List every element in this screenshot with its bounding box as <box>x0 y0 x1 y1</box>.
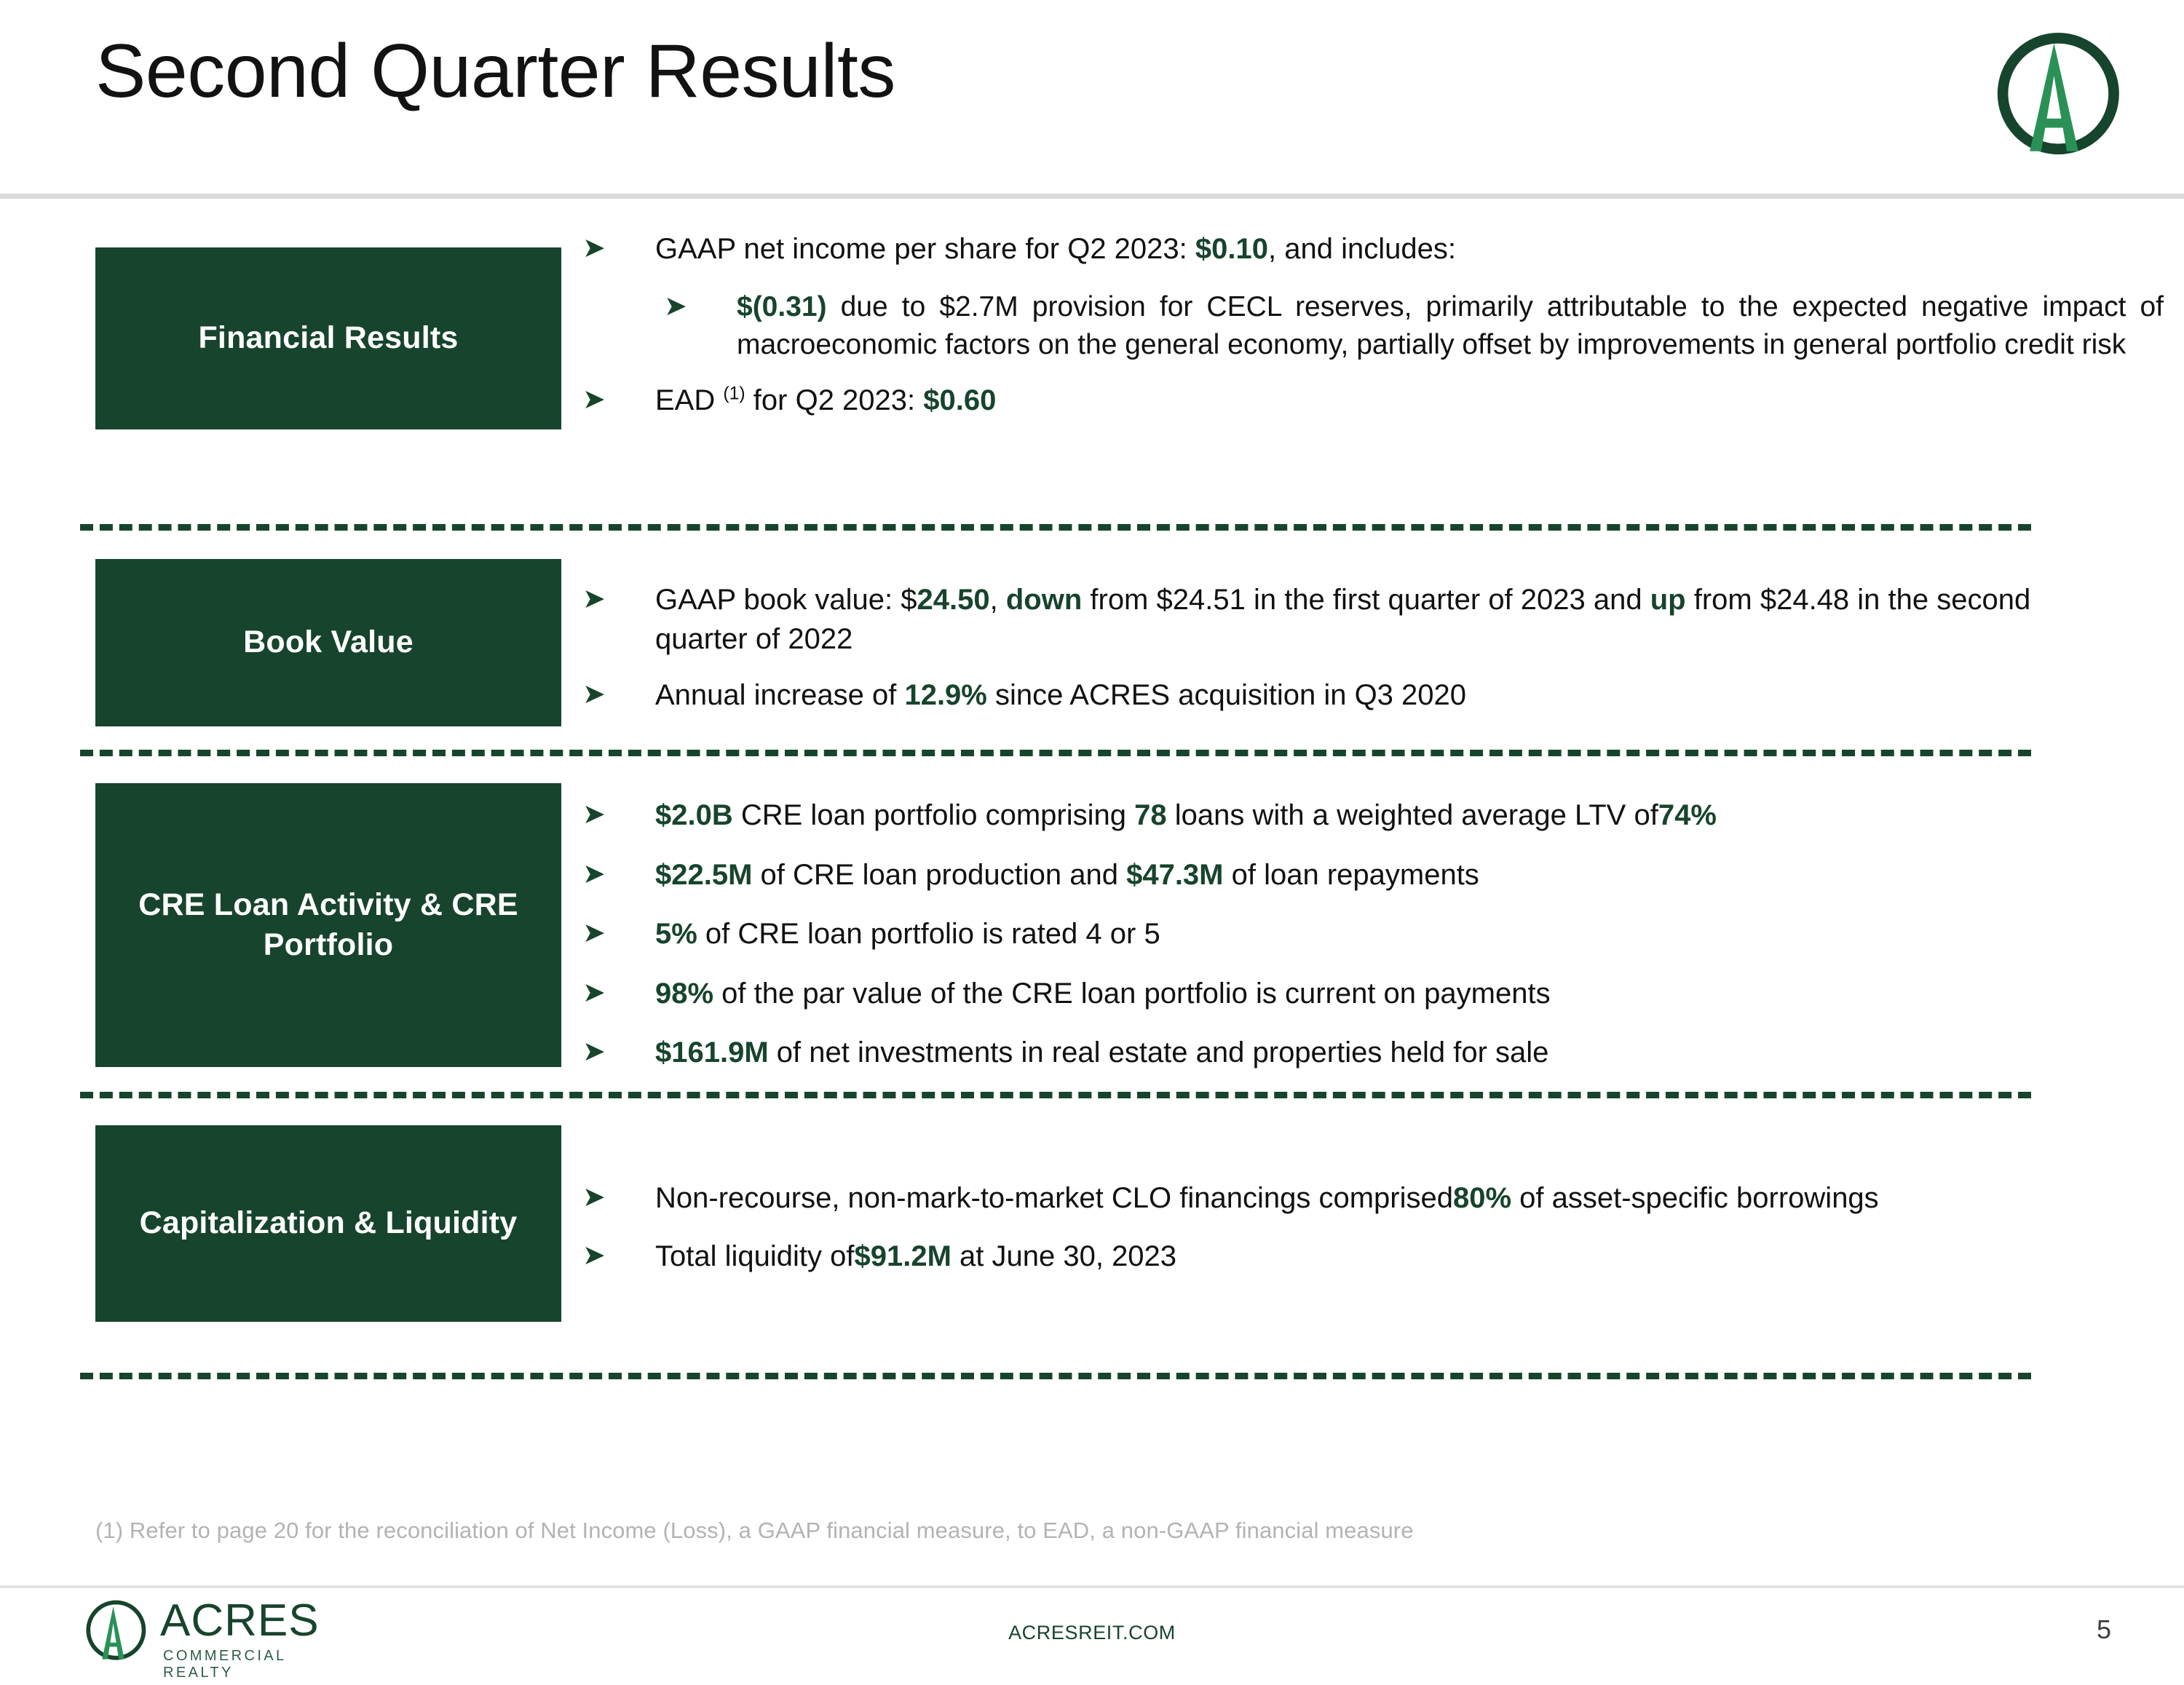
bullet-text: Non-recourse, non-mark-to-market CLO fin… <box>655 1182 1879 1214</box>
section-divider <box>80 524 2031 531</box>
bullet-item: ➤ 98% of the par value of the CRE loan p… <box>582 975 2046 1014</box>
arrow-bullet-icon: ➤ <box>582 678 616 711</box>
section-label-cre-loan-activity: CRE Loan Activity & CRE Portfolio <box>95 783 561 1067</box>
footer-url[interactable]: ACRESREIT.COM <box>0 1622 2184 1644</box>
section-divider <box>80 750 2031 756</box>
section-label-capitalization-liquidity: Capitalization & Liquidity <box>95 1125 561 1322</box>
arrow-bullet-icon: ➤ <box>582 1239 616 1272</box>
bullet-text: GAAP net income per share for Q2 2023: $… <box>655 233 1456 265</box>
bullet-item: ➤ $22.5M of CRE loan production and $47.… <box>582 856 2046 895</box>
bullet-text: Annual increase of 12.9% since ACRES acq… <box>655 679 1466 711</box>
bullet-item: ➤ $2.0B CRE loan portfolio comprising 78… <box>582 796 2046 836</box>
bullet-text: 98% of the par value of the CRE loan por… <box>655 978 1551 1010</box>
arrow-bullet-icon: ➤ <box>582 916 616 950</box>
section-bullets-cre-loan-activity: ➤ $2.0B CRE loan portfolio comprising 78… <box>582 796 2046 1073</box>
arrow-bullet-icon: ➤ <box>582 976 616 1010</box>
section-bullets-book-value: ➤ GAAP book value: $24.50, down from $24… <box>582 581 2046 715</box>
bullet-text: EAD (1) for Q2 2023: $0.60 <box>655 384 996 416</box>
section-label-book-value: Book Value <box>95 559 561 726</box>
bullet-item: ➤ GAAP book value: $24.50, down from $24… <box>582 581 2104 659</box>
arrow-bullet-icon: ➤ <box>582 383 616 416</box>
bullet-item: ➤ 5% of CRE loan portfolio is rated 4 or… <box>582 915 2046 954</box>
arrow-bullet-icon: ➤ <box>582 582 616 616</box>
bullet-text: Total liquidity of$91.2M at June 30, 202… <box>655 1240 1176 1272</box>
bullet-item: ➤ GAAP net income per share for Q2 2023:… <box>582 230 2046 269</box>
arrow-bullet-icon: ➤ <box>582 798 616 831</box>
footer-subwordmark: COMMERCIAL REALTY <box>163 1648 345 1681</box>
acres-circle-a-logo-icon <box>1974 19 2131 175</box>
bullet-text: $(0.31) due to $2.7M provision for CECL … <box>737 291 2164 360</box>
bullet-item: ➤ Total liquidity of$91.2M at June 30, 2… <box>582 1237 2046 1277</box>
arrow-bullet-icon: ➤ <box>582 1035 616 1069</box>
slide-header: Second Quarter Results <box>0 0 2184 195</box>
bullet-text: $22.5M of CRE loan production and $47.3M… <box>655 859 1479 891</box>
bullet-text: 5% of CRE loan portfolio is rated 4 or 5 <box>655 918 1160 950</box>
header-divider <box>0 194 2184 199</box>
arrow-bullet-icon: ➤ <box>582 1181 616 1214</box>
footnote: (1) Refer to page 20 for the reconciliat… <box>95 1518 1414 1544</box>
bullet-item: ➤ Annual increase of 12.9% since ACRES a… <box>582 676 2046 715</box>
page-title: Second Quarter Results <box>95 31 895 112</box>
page-number: 5 <box>2053 1614 2155 1645</box>
slide: Second Quarter Results Financial Results… <box>0 0 2184 1685</box>
footer-divider <box>0 1585 2184 1588</box>
section-bullets-financial-results: ➤ GAAP net income per share for Q2 2023:… <box>582 230 2046 421</box>
arrow-bullet-icon: ➤ <box>664 290 697 323</box>
bullet-text: $161.9M of net investments in real estat… <box>655 1036 1548 1069</box>
bullet-item: ➤ Non-recourse, non-mark-to-market CLO f… <box>582 1179 2046 1218</box>
bullet-text: $2.0B CRE loan portfolio comprising 78 l… <box>655 799 1717 831</box>
section-divider <box>80 1092 2031 1098</box>
section-label-financial-results: Financial Results <box>95 247 561 429</box>
bullet-text: GAAP book value: $24.50, down from $24.5… <box>655 584 2030 655</box>
section-bullets-capitalization-liquidity: ➤ Non-recourse, non-mark-to-market CLO f… <box>582 1179 2046 1276</box>
section-divider <box>80 1373 2031 1379</box>
arrow-bullet-icon: ➤ <box>582 857 616 891</box>
bullet-item: ➤ EAD (1) for Q2 2023: $0.60 <box>582 381 2046 421</box>
bullet-item: ➤ $161.9M of net investments in real est… <box>582 1034 2046 1073</box>
bullet-item-sub: ➤ $(0.31) due to $2.7M provision for CEC… <box>582 288 2164 365</box>
arrow-bullet-icon: ➤ <box>582 231 616 265</box>
